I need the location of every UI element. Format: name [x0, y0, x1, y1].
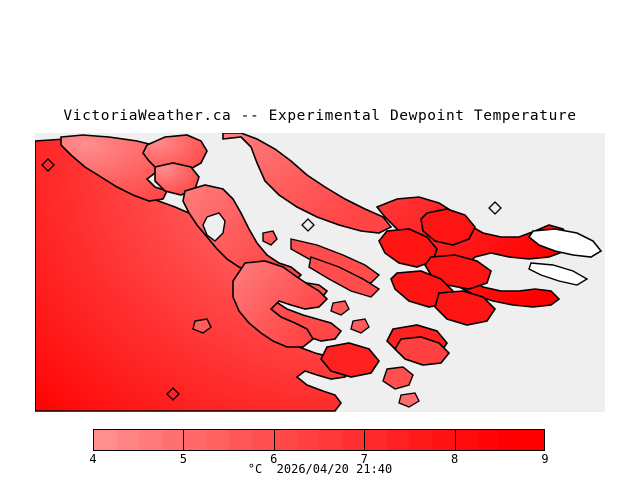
colorbar-band-17	[477, 430, 500, 450]
colorbar-band-16	[454, 430, 477, 450]
colorbar-band-2	[139, 430, 162, 450]
colorbar-band-6	[229, 430, 252, 450]
colorbar-band-1	[117, 430, 140, 450]
colorbar-caption: °C 2026/04/20 21:40	[0, 462, 640, 476]
colorbar-band-5	[207, 430, 230, 450]
colorbar-band-3	[162, 430, 185, 450]
colorbar-band-7	[252, 430, 275, 450]
colorbar-band-0	[94, 430, 117, 450]
colorbar-band-19	[522, 430, 545, 450]
colorbar[interactable]	[93, 429, 545, 451]
map-canvas[interactable]	[35, 133, 605, 412]
colorbar-band-14	[409, 430, 432, 450]
colorbar-gradient	[93, 429, 545, 451]
colorbar-band-11	[342, 430, 365, 450]
dewpoint-contour-map	[35, 133, 605, 412]
weather-map-page: VictoriaWeather.ca -- Experimental Dewpo…	[0, 0, 640, 480]
colorbar-band-9	[297, 430, 320, 450]
colorbar-band-13	[387, 430, 410, 450]
colorbar-band-12	[364, 430, 387, 450]
page-title: VictoriaWeather.ca -- Experimental Dewpo…	[0, 108, 640, 124]
colorbar-band-15	[432, 430, 455, 450]
colorbar-band-8	[274, 430, 297, 450]
colorbar-band-18	[499, 430, 522, 450]
colorbar-band-4	[184, 430, 207, 450]
colorbar-band-10	[319, 430, 342, 450]
